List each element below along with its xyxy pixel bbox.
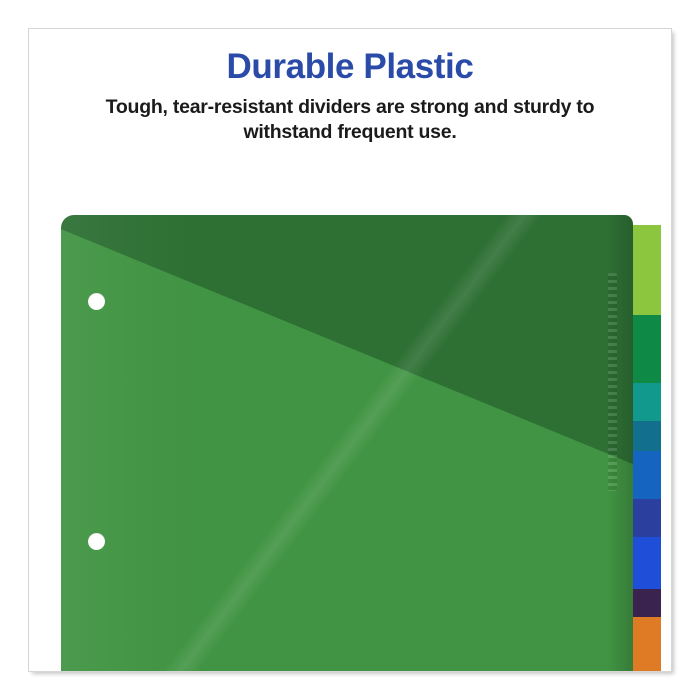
- page-title: Durable Plastic: [29, 49, 671, 86]
- product-photo: [29, 177, 672, 672]
- headline-block: Durable Plastic Tough, tear-resistant di…: [29, 49, 671, 145]
- pocket-flap: [61, 215, 633, 672]
- punch-hole-bottom: [88, 533, 105, 550]
- plastic-divider-sheet: [61, 215, 633, 672]
- reinforced-edge-strip: [608, 273, 617, 491]
- page-subtitle: Tough, tear-resistant dividers are stron…: [70, 95, 630, 146]
- product-image-card: Durable Plastic Tough, tear-resistant di…: [28, 28, 672, 672]
- punch-hole-top: [88, 293, 105, 310]
